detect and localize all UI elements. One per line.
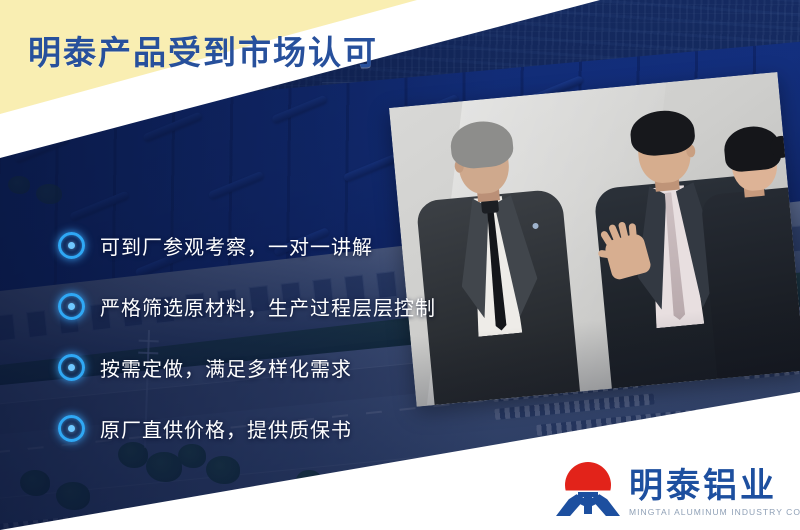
list-item[interactable]: 按需定做，满足多样化需求 (58, 337, 388, 398)
company-name-en: MINGTAI ALUMINUM INDUSTRY CO., LTD (629, 507, 800, 517)
list-item[interactable]: 可到厂参观考察，一对一讲解 (58, 215, 388, 276)
company-name-cn: 明泰铝业 (629, 469, 800, 503)
feature-label: 严格筛选原材料，生产过程层层控制 (100, 292, 436, 321)
feature-label: 原厂直供价格，提供质保书 (100, 414, 352, 443)
page-title: 明泰产品受到市场认可 (28, 26, 378, 74)
business-meeting-photo (389, 72, 800, 407)
target-ring-icon (58, 415, 85, 442)
target-ring-icon (58, 354, 85, 381)
logo-text-block: 明泰铝业 MINGTAI ALUMINUM INDUSTRY CO., LTD (629, 469, 800, 518)
logo-center-mark (584, 492, 592, 514)
company-logo[interactable]: 明泰铝业 MINGTAI ALUMINUM INDUSTRY CO., LTD (556, 462, 800, 518)
list-item[interactable]: 严格筛选原材料，生产过程层层控制 (58, 276, 388, 337)
target-ring-icon (58, 293, 85, 320)
feature-label: 可到厂参观考察，一对一讲解 (100, 231, 373, 260)
photo-canvas (389, 72, 800, 407)
feature-list: 可到厂参观考察，一对一讲解 严格筛选原材料，生产过程层层控制 按需定做，满足多样… (58, 215, 388, 459)
list-item[interactable]: 原厂直供价格，提供质保书 (58, 398, 388, 459)
sun-mountain-logo-icon (556, 462, 620, 518)
feature-label: 按需定做，满足多样化需求 (100, 353, 352, 382)
target-ring-icon (58, 232, 85, 259)
promo-banner: 明泰产品受到市场认可 可到厂参观考察，一对一讲解 严格筛选原材料，生产过程层层控… (0, 0, 800, 530)
